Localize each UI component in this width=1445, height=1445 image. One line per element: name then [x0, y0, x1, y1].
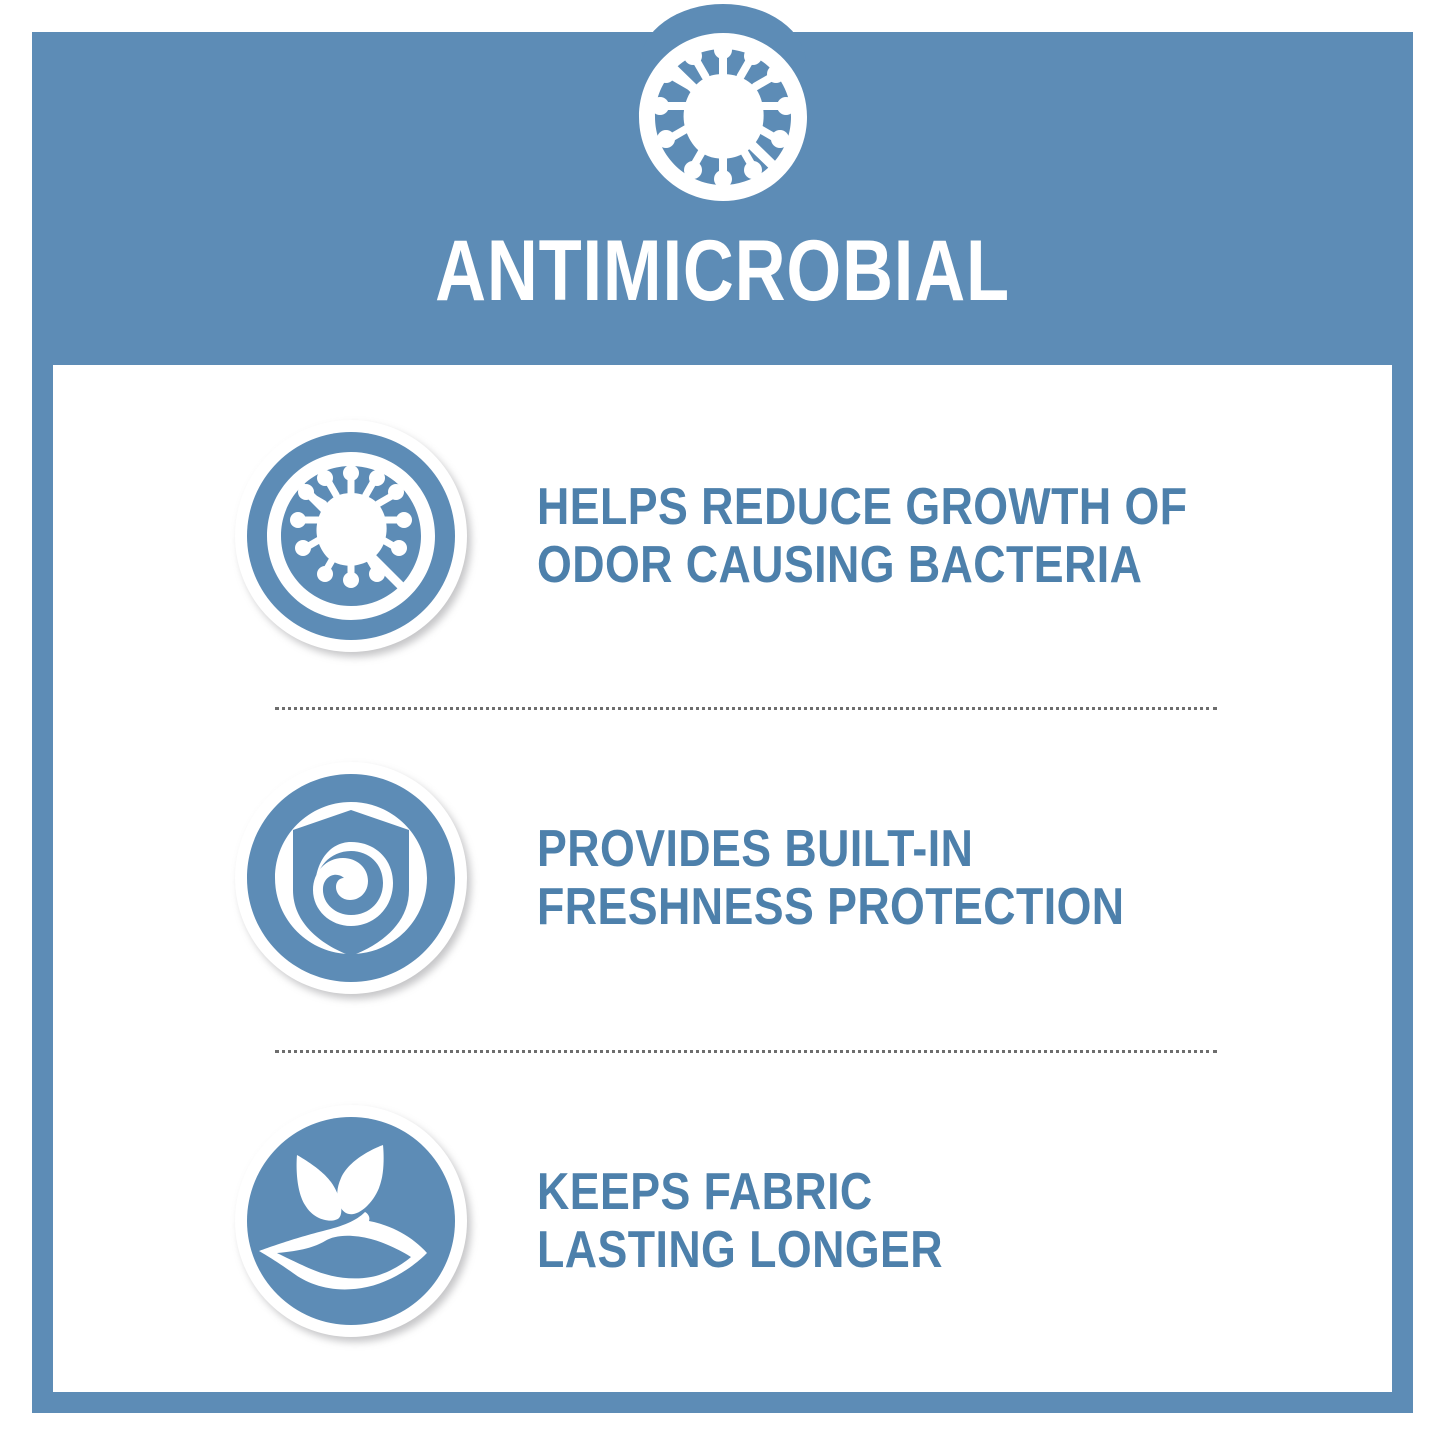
no-germ-circle-icon — [231, 416, 471, 656]
no-germ-icon — [634, 29, 812, 221]
list-item: HELPS REDUCE GROWTH OF ODOR CAUSING BACT… — [53, 365, 1392, 707]
page-title: ANTIMICROBIAL — [156, 228, 1288, 314]
shield-swirl-icon — [231, 758, 471, 998]
antimicrobial-infographic: ANTIMICROBIAL — [0, 0, 1445, 1445]
list-item-label: PROVIDES BUILT-IN FRESHNESS PROTECTION — [537, 820, 1272, 936]
list-item: KEEPS FABRIC LASTING LONGER — [53, 1050, 1392, 1392]
list-item-label: KEEPS FABRIC LASTING LONGER — [537, 1163, 1272, 1279]
feature-list: HELPS REDUCE GROWTH OF ODOR CAUSING BACT… — [53, 365, 1392, 1392]
header: ANTIMICROBIAL — [32, 32, 1413, 365]
list-item-label: HELPS REDUCE GROWTH OF ODOR CAUSING BACT… — [537, 478, 1272, 594]
blue-panel: ANTIMICROBIAL — [32, 32, 1413, 1413]
leaf-plant-icon — [231, 1101, 471, 1341]
list-item: PROVIDES BUILT-IN FRESHNESS PROTECTION — [53, 707, 1392, 1049]
content-card: HELPS REDUCE GROWTH OF ODOR CAUSING BACT… — [53, 365, 1392, 1392]
